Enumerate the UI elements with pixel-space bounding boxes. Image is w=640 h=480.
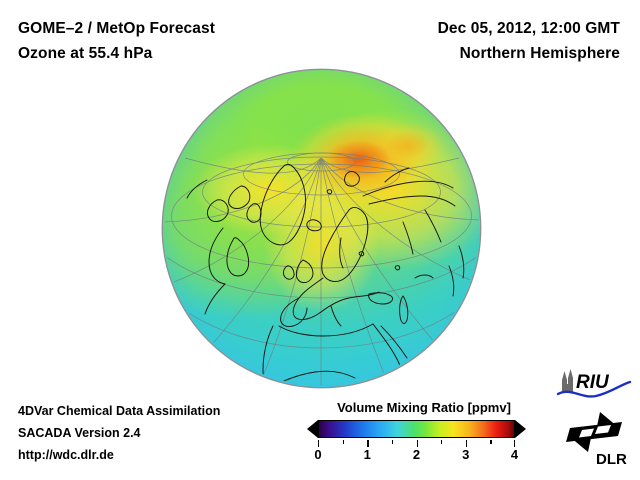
footer-method: 4DVar Chemical Data Assimilation bbox=[18, 400, 220, 422]
globe-map bbox=[163, 70, 480, 387]
graticule-parallels bbox=[165, 153, 478, 387]
colorbar-label-3: 3 bbox=[462, 447, 469, 462]
footer-text: 4DVar Chemical Data Assimilation SACADA … bbox=[18, 400, 220, 466]
cathedral-spires-icon bbox=[562, 369, 573, 392]
title-timestamp: Dec 05, 2012, 12:00 GMT bbox=[292, 16, 622, 41]
colorbar-ticks bbox=[318, 440, 515, 447]
visualization-page: GOME–2 / MetOp Forecast Ozone at 55.4 hP… bbox=[0, 0, 640, 480]
footer-version: SACADA Version 2.4 bbox=[18, 422, 220, 444]
colorbar-label-0: 0 bbox=[314, 447, 321, 462]
colorbar-row: 0 1 2 3 4 bbox=[300, 420, 540, 440]
globe-overlay-svg bbox=[163, 70, 480, 387]
colorbar-gradient bbox=[318, 420, 515, 438]
footer-url[interactable]: http://wdc.dlr.de bbox=[18, 444, 220, 466]
colorbar-tick-labels: 0 1 2 3 4 bbox=[318, 447, 515, 465]
coastlines bbox=[187, 164, 464, 386]
dlr-star-icon bbox=[566, 412, 622, 452]
dlr-wordmark: DLR bbox=[596, 451, 627, 468]
colorbar-under-arrow-icon bbox=[307, 420, 318, 438]
colorbar-label-2: 2 bbox=[413, 447, 420, 462]
dlr-logo: DLR bbox=[566, 410, 632, 468]
colorbar-title: Volume Mixing Ratio [ppmv] bbox=[308, 400, 540, 415]
colorbar: Volume Mixing Ratio [ppmv] 0 1 2 3 bbox=[300, 400, 540, 440]
colorbar-over-arrow-icon bbox=[515, 420, 526, 438]
riu-wordmark: RIU bbox=[576, 372, 610, 393]
globe-disc bbox=[163, 70, 480, 387]
header-right: Dec 05, 2012, 12:00 GMT Northern Hemisph… bbox=[292, 16, 622, 66]
colorbar-label-1: 1 bbox=[364, 447, 371, 462]
colorbar-label-4: 4 bbox=[511, 447, 518, 462]
title-region: Northern Hemisphere bbox=[292, 41, 622, 66]
riu-logo: RIU bbox=[556, 368, 632, 402]
